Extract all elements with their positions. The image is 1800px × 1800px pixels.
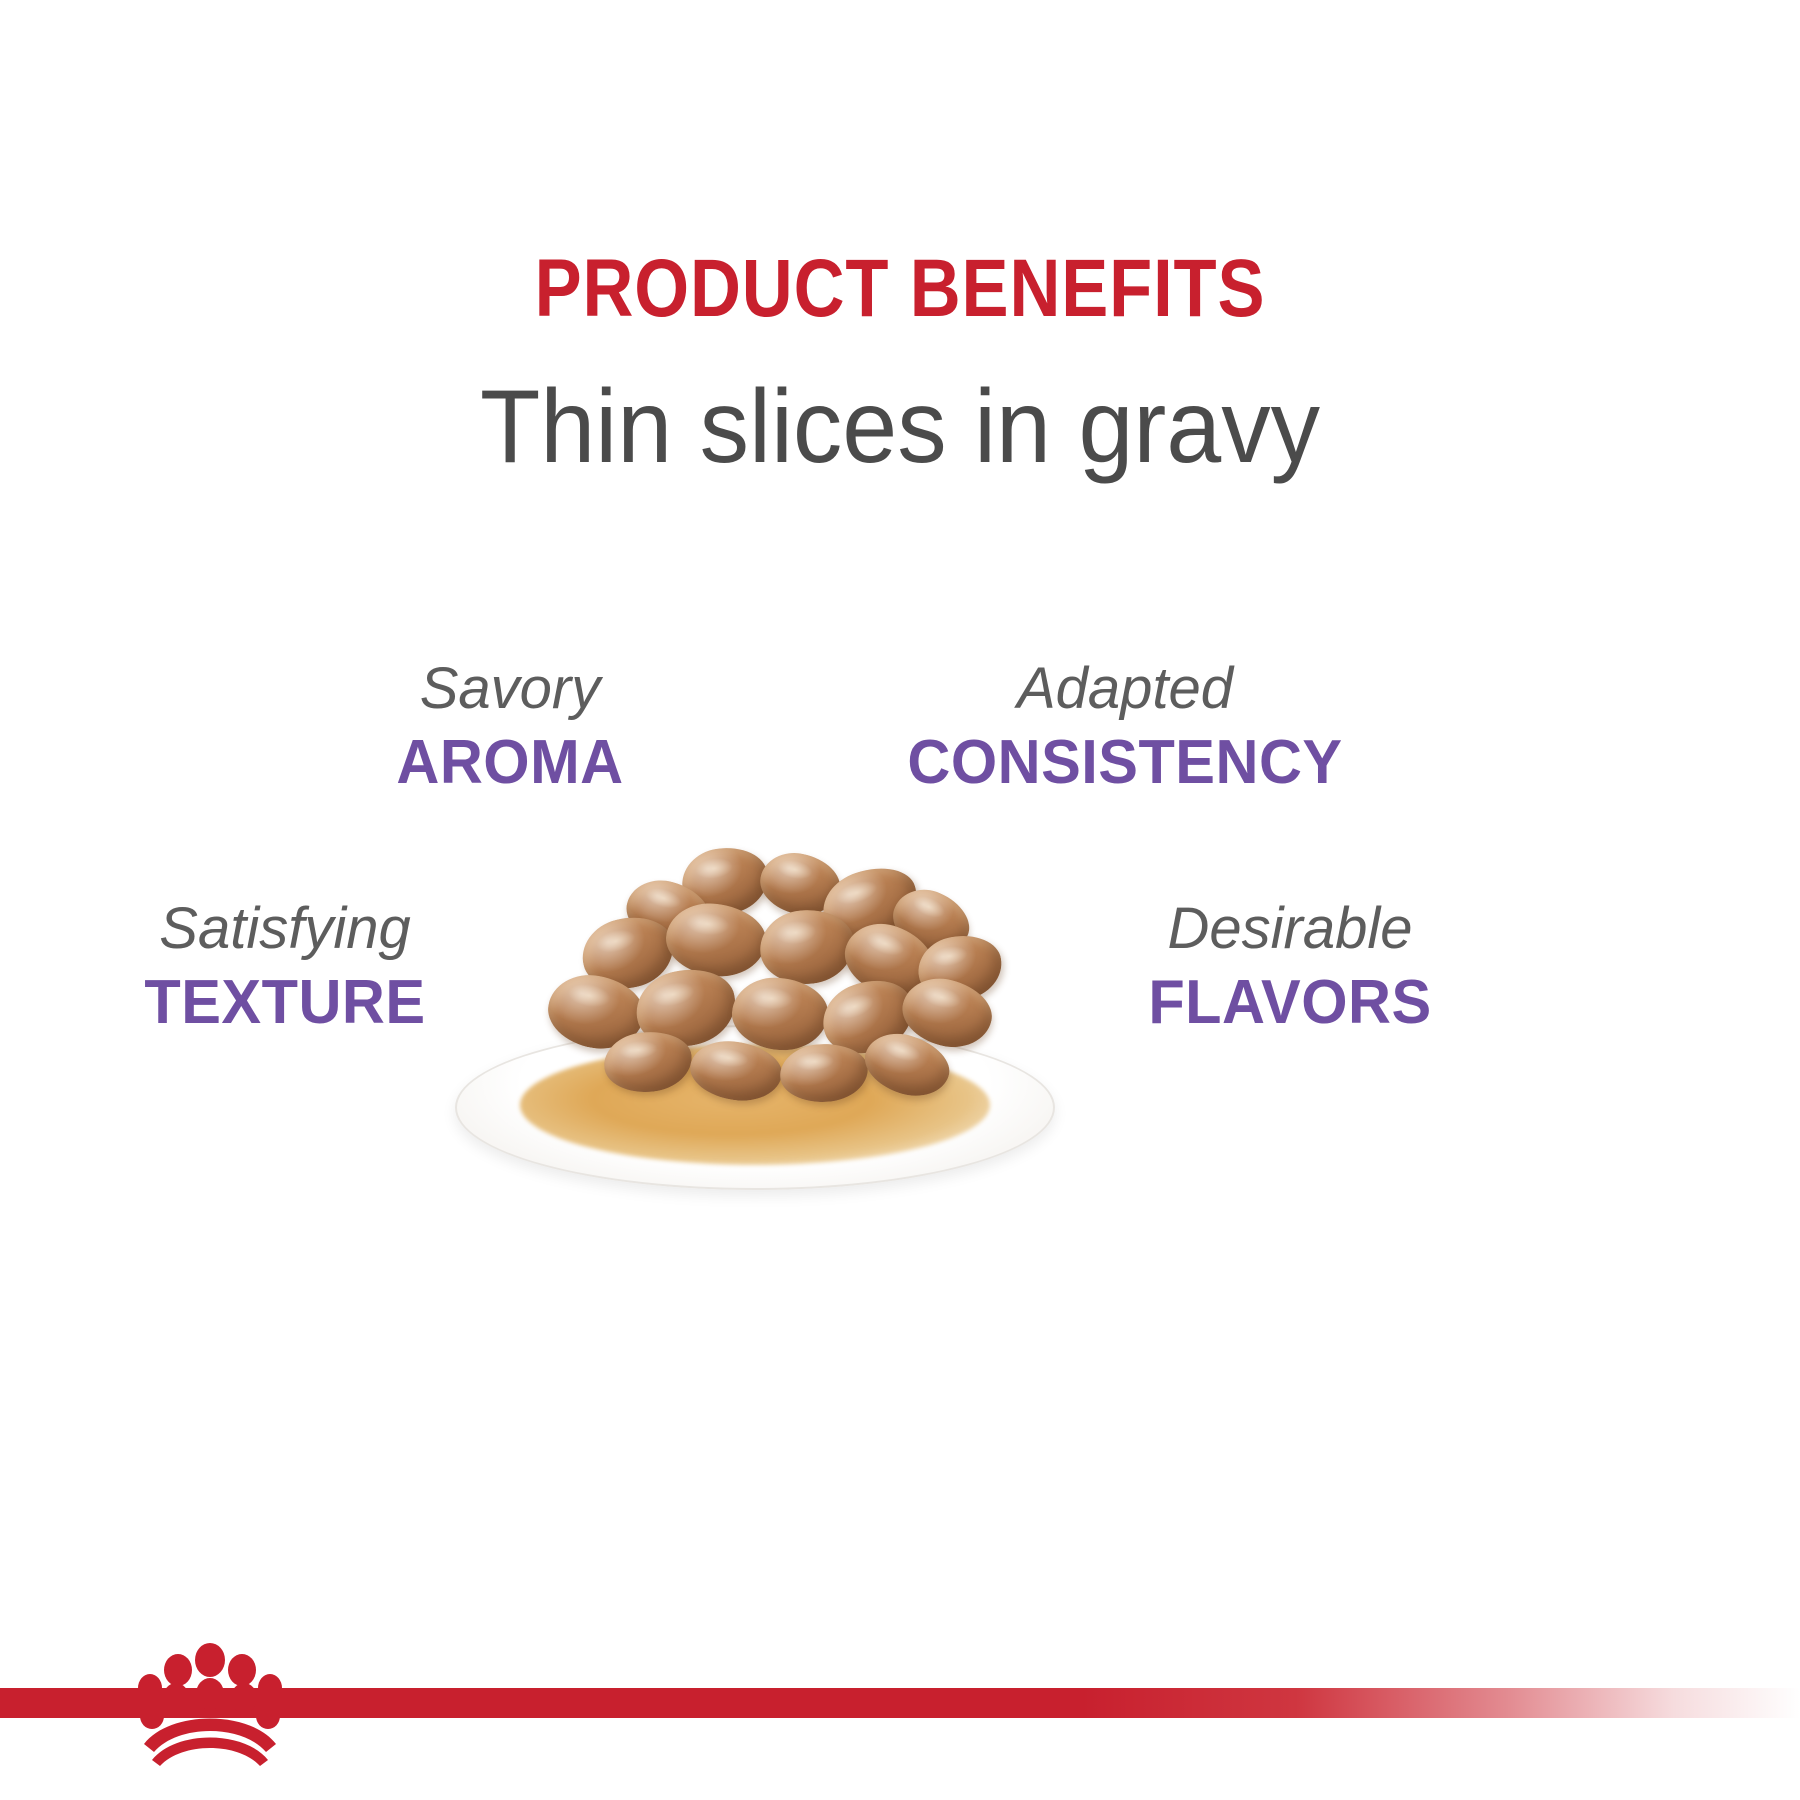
- benefit-consistency: Adapted CONSISTENCY: [890, 660, 1360, 794]
- product-food-image: [440, 830, 1080, 1200]
- royal-canin-crown-logo: [130, 1632, 290, 1772]
- benefit-aroma: Savory AROMA: [310, 660, 710, 794]
- benefit-flavors-adjective: Desirable: [1080, 900, 1500, 958]
- benefit-consistency-adjective: Adapted: [890, 660, 1360, 718]
- benefit-texture: Satisfying TEXTURE: [80, 900, 490, 1034]
- benefit-aroma-adjective: Savory: [310, 660, 710, 718]
- benefit-flavors: Desirable FLAVORS: [1080, 900, 1500, 1034]
- benefit-texture-adjective: Satisfying: [80, 900, 490, 958]
- benefit-flavors-label: FLAVORS: [1088, 972, 1491, 1034]
- benefit-aroma-label: AROMA: [318, 732, 702, 794]
- page-eyebrow-title: PRODUCT BENEFITS: [126, 248, 1674, 330]
- benefit-consistency-label: CONSISTENCY: [899, 732, 1350, 794]
- page-title: Thin slices in gravy: [45, 370, 1755, 484]
- benefit-texture-label: TEXTURE: [88, 972, 482, 1034]
